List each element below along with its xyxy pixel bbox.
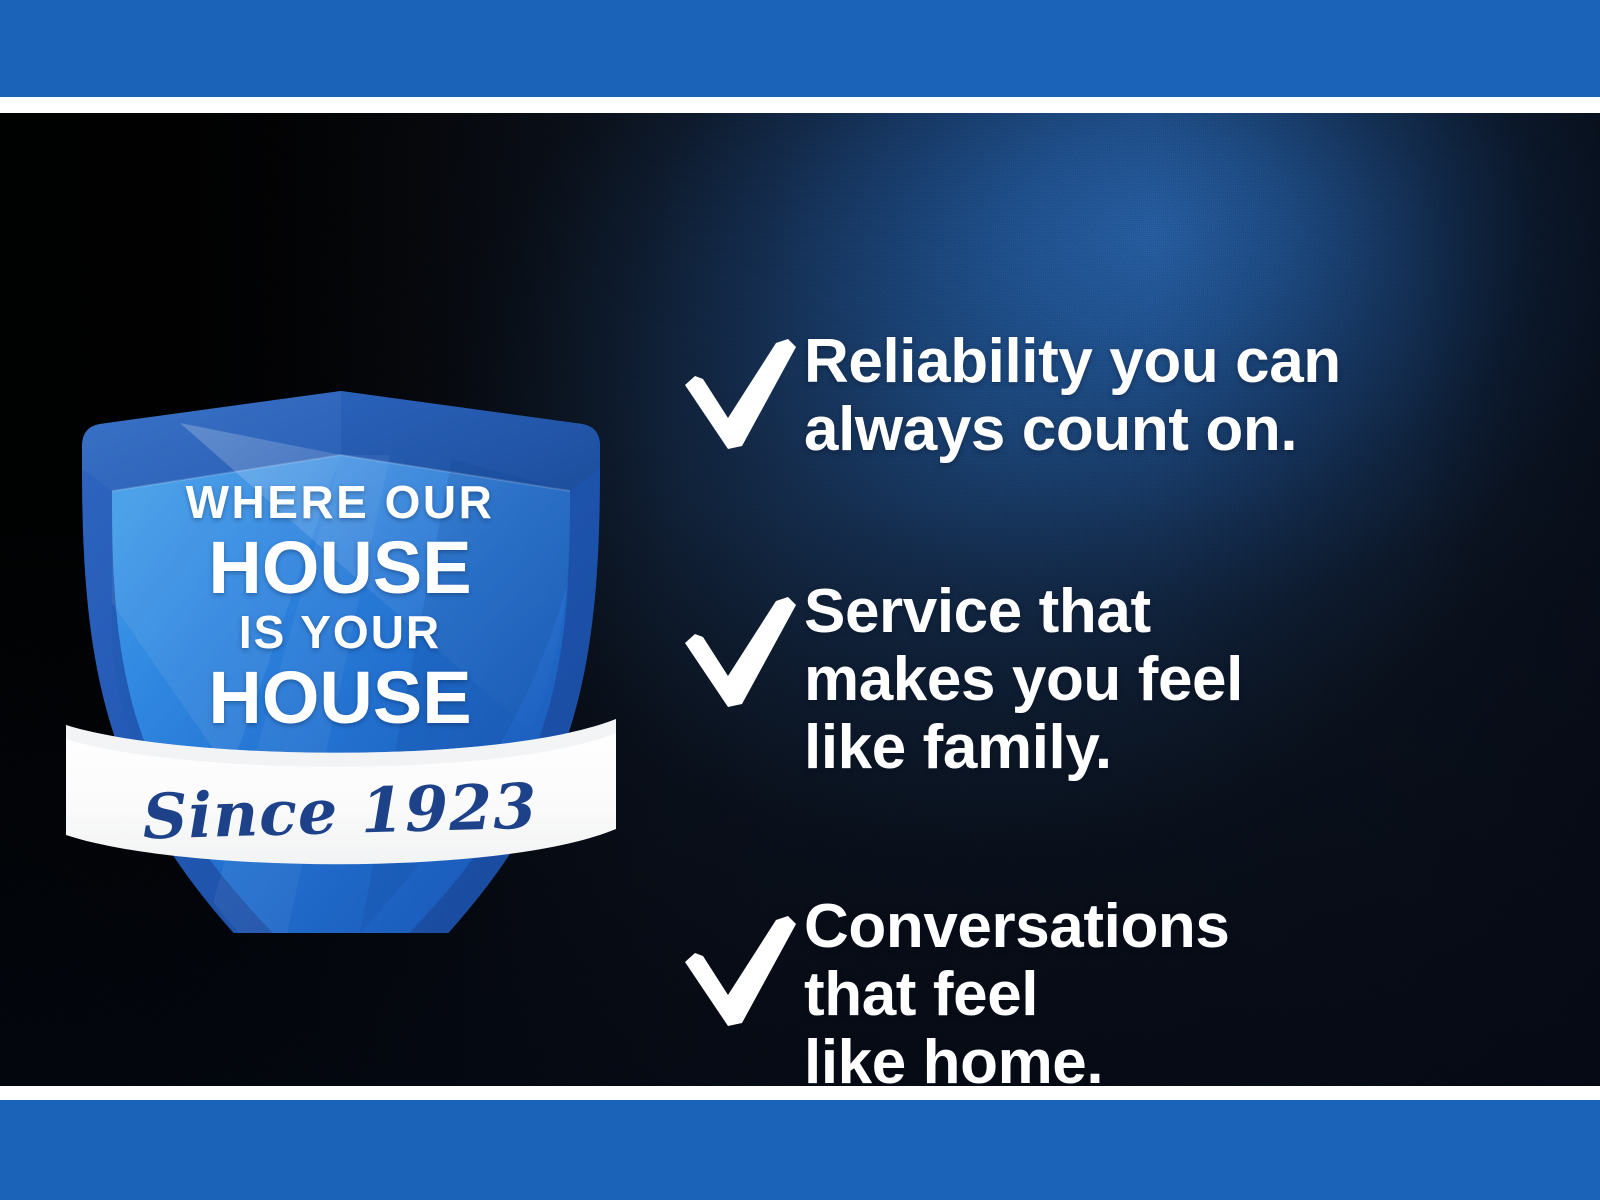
feature-item-service: Service that makes you feel like family.: [672, 578, 1243, 783]
feature-line: Conversations: [804, 893, 1229, 961]
feature-line: like home.: [804, 1029, 1229, 1086]
feature-line: Reliability you can: [804, 328, 1341, 396]
checkmark-icon: [672, 328, 804, 454]
feature-line: that feel: [804, 961, 1229, 1029]
feature-text-conversations: Conversations that feel like home.: [804, 893, 1229, 1086]
feature-line: Service that: [804, 578, 1243, 646]
feature-line: always count on.: [804, 396, 1341, 464]
badge-line-3: IS YOUR: [60, 609, 620, 655]
bottom-brand-bar: [0, 1100, 1600, 1200]
badge-line-4: HOUSE: [60, 661, 620, 735]
badge-line-2: HOUSE: [60, 531, 620, 605]
feature-line: makes you feel: [804, 646, 1243, 714]
top-white-divider: [0, 97, 1600, 113]
feature-line: like family.: [804, 714, 1243, 782]
badge-ribbon-text: Since 1923: [59, 767, 621, 856]
promo-graphic: WHERE OUR HOUSE IS YOUR HOUSE Since 1923…: [0, 0, 1600, 1200]
checkmark-icon: [672, 578, 804, 712]
badge-line-1: WHERE OUR: [60, 479, 620, 525]
feature-item-reliability: Reliability you can always count on.: [672, 328, 1341, 464]
feature-item-conversations: Conversations that feel like home.: [672, 893, 1229, 1086]
main-canvas: WHERE OUR HOUSE IS YOUR HOUSE Since 1923…: [0, 113, 1600, 1086]
top-brand-bar: [0, 0, 1600, 97]
feature-text-reliability: Reliability you can always count on.: [804, 328, 1341, 464]
checkmark-icon: [672, 893, 804, 1031]
feature-text-service: Service that makes you feel like family.: [804, 578, 1243, 783]
shield-badge: WHERE OUR HOUSE IS YOUR HOUSE Since 1923: [60, 273, 620, 933]
bottom-white-divider: [0, 1086, 1600, 1100]
